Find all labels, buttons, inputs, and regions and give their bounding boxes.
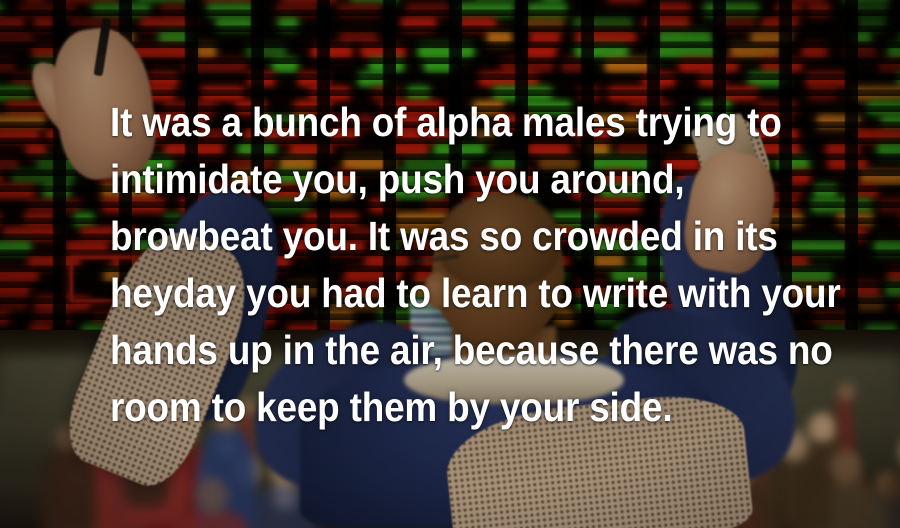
quote-line: room to keep them by your side.: [110, 379, 778, 436]
quote-text-block: It was a bunch of alpha males trying to …: [110, 94, 852, 436]
quote-line: intimidate you, push you around,: [110, 151, 778, 208]
quote-line: It was a bunch of alpha males trying to: [110, 94, 778, 151]
quote-line: heyday you had to learn to write with yo…: [110, 265, 778, 322]
quote-line: hands up in the air, because there was n…: [110, 322, 778, 379]
quote-image: It was a bunch of alpha males trying to …: [0, 0, 900, 528]
quote-line: browbeat you. It was so crowded in its: [110, 208, 778, 265]
